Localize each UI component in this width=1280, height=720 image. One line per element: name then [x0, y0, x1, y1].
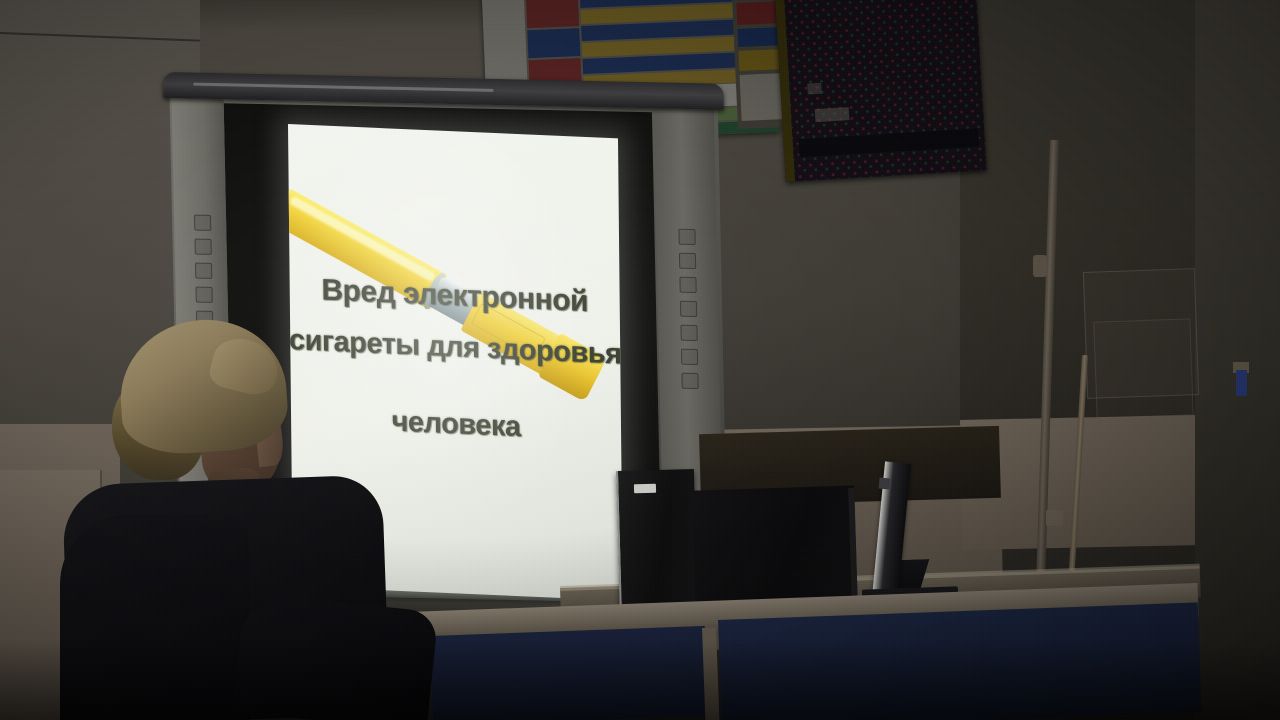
whiteboard-button[interactable]: [196, 287, 213, 303]
classroom-photo-scene: H2S SO3 N2O5 NO2 P2O5 SiO2 CO2 SO2 NO: [0, 0, 1280, 720]
desk-front-left-panel: [430, 626, 708, 720]
light-switch[interactable]: [1033, 255, 1047, 277]
periodic-table-marker: [807, 83, 822, 95]
whiteboard-button[interactable]: [679, 277, 696, 293]
whiteboard-button[interactable]: [195, 263, 212, 279]
slide-title-line-3: человека: [391, 408, 520, 443]
whiteboard-rail-highlight: [193, 83, 493, 92]
desk-front-right-panel: [718, 602, 1202, 720]
whiteboard-button[interactable]: [680, 325, 697, 341]
pc-tower-speaker: [616, 469, 698, 621]
presenter-person: [60, 318, 390, 720]
shoulder: [60, 514, 250, 720]
whiteboard-button[interactable]: [680, 301, 697, 317]
monitor-badge: [878, 477, 890, 489]
slide-title-line-1: Вред электронной: [321, 275, 588, 317]
arm: [232, 592, 438, 720]
whiteboard-button[interactable]: [194, 215, 211, 231]
wall-pipe-joint: [1046, 510, 1063, 526]
poster-periodic-table: [775, 0, 987, 182]
whiteboard-button[interactable]: [678, 229, 695, 245]
wall-notice-panel-inner: [1093, 318, 1193, 418]
whiteboard-button[interactable]: [681, 373, 698, 389]
whiteboard-right-button-column[interactable]: [678, 229, 697, 389]
whiteboard-button[interactable]: [681, 349, 698, 365]
monitor-main-rear: [692, 485, 858, 612]
blue-wall-tag: [1236, 370, 1247, 396]
periodic-table-legend: [815, 107, 850, 122]
whiteboard-button[interactable]: [194, 239, 211, 255]
right-wall-strip: [1195, 0, 1280, 720]
speaker-badge: [634, 484, 656, 494]
whiteboard-button[interactable]: [679, 253, 696, 269]
